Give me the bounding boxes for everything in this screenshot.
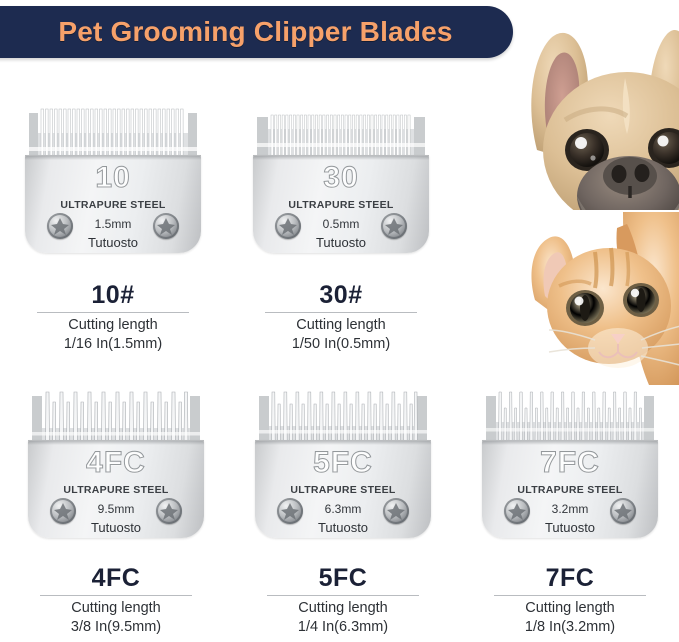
blade-figure-7fc: 7FC ULTRAPURE STEEL 3.2mm Tutuosto bbox=[482, 388, 658, 538]
blade-image-7fc: 7FC ULTRAPURE STEEL 3.2mm Tutuosto bbox=[482, 388, 658, 538]
blade-engraved-steel: ULTRAPURE STEEL bbox=[482, 484, 658, 496]
blade-body-10: 10 ULTRAPURE STEEL 1.5mm Tutuosto bbox=[25, 155, 201, 253]
screw-right-icon bbox=[153, 213, 179, 239]
pets-illustration bbox=[499, 0, 679, 385]
title-banner: Pet Grooming Clipper Blades bbox=[0, 6, 513, 58]
blade-body-4fc: 4FC ULTRAPURE STEEL 9.5mm Tutuosto bbox=[28, 440, 204, 538]
caption-divider bbox=[40, 595, 192, 596]
blade-image-30: 30 ULTRAPURE STEEL 0.5mm Tutuosto bbox=[253, 103, 429, 253]
blade-figure-5fc: 5FC ULTRAPURE STEEL 6.3mm Tutuosto bbox=[255, 388, 431, 538]
blade-engraved-steel: ULTRAPURE STEEL bbox=[25, 199, 201, 211]
blade-engraved-number: 10 bbox=[25, 161, 201, 195]
caption-divider bbox=[265, 312, 417, 313]
caption-line-1: Cutting length bbox=[28, 599, 204, 618]
blade-caption-5fc: 5FC Cutting length 1/4 In(6.3mm) bbox=[255, 565, 431, 638]
animal-photo-group bbox=[499, 0, 679, 385]
blade-body-5fc: 5FC ULTRAPURE STEEL 6.3mm Tutuosto bbox=[255, 440, 431, 538]
caption-line-1: Cutting length bbox=[255, 599, 431, 618]
caption-name: 5FC bbox=[255, 565, 431, 591]
blade-engraved-number: 30 bbox=[253, 161, 429, 195]
blade-engraved-steel: ULTRAPURE STEEL bbox=[28, 484, 204, 496]
blade-image-4fc: 4FC ULTRAPURE STEEL 9.5mm Tutuosto bbox=[28, 388, 204, 538]
blade-engraved-number: 5FC bbox=[255, 446, 431, 480]
caption-line-1: Cutting length bbox=[482, 599, 658, 618]
caption-line-2: 1/16 In(1.5mm) bbox=[25, 335, 201, 354]
page-title: Pet Grooming Clipper Blades bbox=[30, 16, 452, 48]
caption-line-2: 1/50 In(0.5mm) bbox=[253, 335, 429, 354]
blade-engraved-number: 7FC bbox=[482, 446, 658, 480]
blade-engraved-steel: ULTRAPURE STEEL bbox=[255, 484, 431, 496]
blade-caption-10: 10# Cutting length 1/16 In(1.5mm) bbox=[25, 282, 201, 355]
product-image: Pet Grooming Clipper Blades bbox=[0, 0, 679, 642]
caption-line-1: Cutting length bbox=[253, 316, 429, 335]
caption-line-1: Cutting length bbox=[25, 316, 201, 335]
blade-caption-30: 30# Cutting length 1/50 In(0.5mm) bbox=[253, 282, 429, 355]
blade-engraved-number: 4FC bbox=[28, 446, 204, 480]
blade-figure-10: 10 ULTRAPURE STEEL 1.5mm Tutuosto bbox=[25, 103, 201, 253]
screw-left-icon bbox=[275, 213, 301, 239]
blade-caption-4fc: 4FC Cutting length 3/8 In(9.5mm) bbox=[28, 565, 204, 638]
caption-line-2: 3/8 In(9.5mm) bbox=[28, 618, 204, 637]
screw-right-icon bbox=[610, 498, 636, 524]
screw-right-icon bbox=[383, 498, 409, 524]
blade-caption-7fc: 7FC Cutting length 1/8 In(3.2mm) bbox=[482, 565, 658, 638]
caption-name: 10# bbox=[25, 282, 201, 308]
screw-right-icon bbox=[156, 498, 182, 524]
blade-body-30: 30 ULTRAPURE STEEL 0.5mm Tutuosto bbox=[253, 155, 429, 253]
blade-image-10: 10 ULTRAPURE STEEL 1.5mm Tutuosto bbox=[25, 103, 201, 253]
caption-name: 7FC bbox=[482, 565, 658, 591]
screw-left-icon bbox=[50, 498, 76, 524]
blade-figure-30: 30 ULTRAPURE STEEL 0.5mm Tutuosto bbox=[253, 103, 429, 253]
caption-line-2: 1/8 In(3.2mm) bbox=[482, 618, 658, 637]
blade-body-7fc: 7FC ULTRAPURE STEEL 3.2mm Tutuosto bbox=[482, 440, 658, 538]
caption-line-2: 1/4 In(6.3mm) bbox=[255, 618, 431, 637]
screw-left-icon bbox=[277, 498, 303, 524]
caption-name: 30# bbox=[253, 282, 429, 308]
caption-divider bbox=[494, 595, 646, 596]
screw-left-icon bbox=[504, 498, 530, 524]
cat-photo bbox=[531, 212, 679, 385]
screw-left-icon bbox=[47, 213, 73, 239]
blade-figure-4fc: 4FC ULTRAPURE STEEL 9.5mm Tutuosto bbox=[28, 388, 204, 538]
caption-divider bbox=[37, 312, 189, 313]
caption-name: 4FC bbox=[28, 565, 204, 591]
blade-engraved-steel: ULTRAPURE STEEL bbox=[253, 199, 429, 211]
blade-image-5fc: 5FC ULTRAPURE STEEL 6.3mm Tutuosto bbox=[255, 388, 431, 538]
caption-divider bbox=[267, 595, 419, 596]
screw-right-icon bbox=[381, 213, 407, 239]
